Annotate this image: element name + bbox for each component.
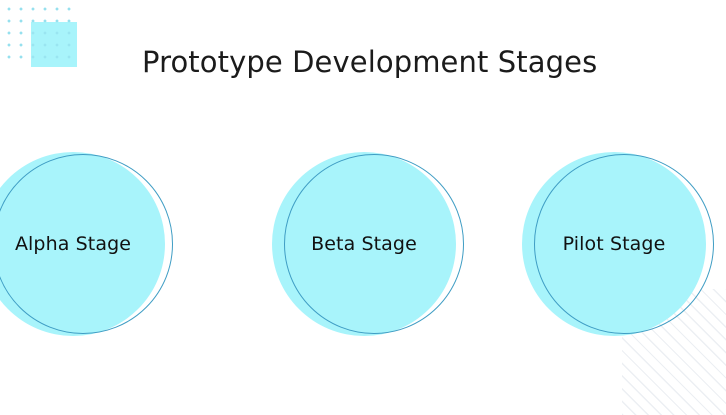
stage-circle-alpha[interactable]: Alpha Stage [0,152,177,348]
slide-canvas: Prototype Development Stages Alpha Stage… [0,0,726,415]
stage-label: Alpha Stage [0,152,165,336]
stage-label: Beta Stage [272,152,456,336]
stage-circle-beta[interactable]: Beta Stage [272,152,468,348]
page-title: Prototype Development Stages [142,45,597,79]
stage-label: Pilot Stage [522,152,706,336]
accent-square-icon [31,22,77,67]
stage-circle-pilot[interactable]: Pilot Stage [522,152,718,348]
